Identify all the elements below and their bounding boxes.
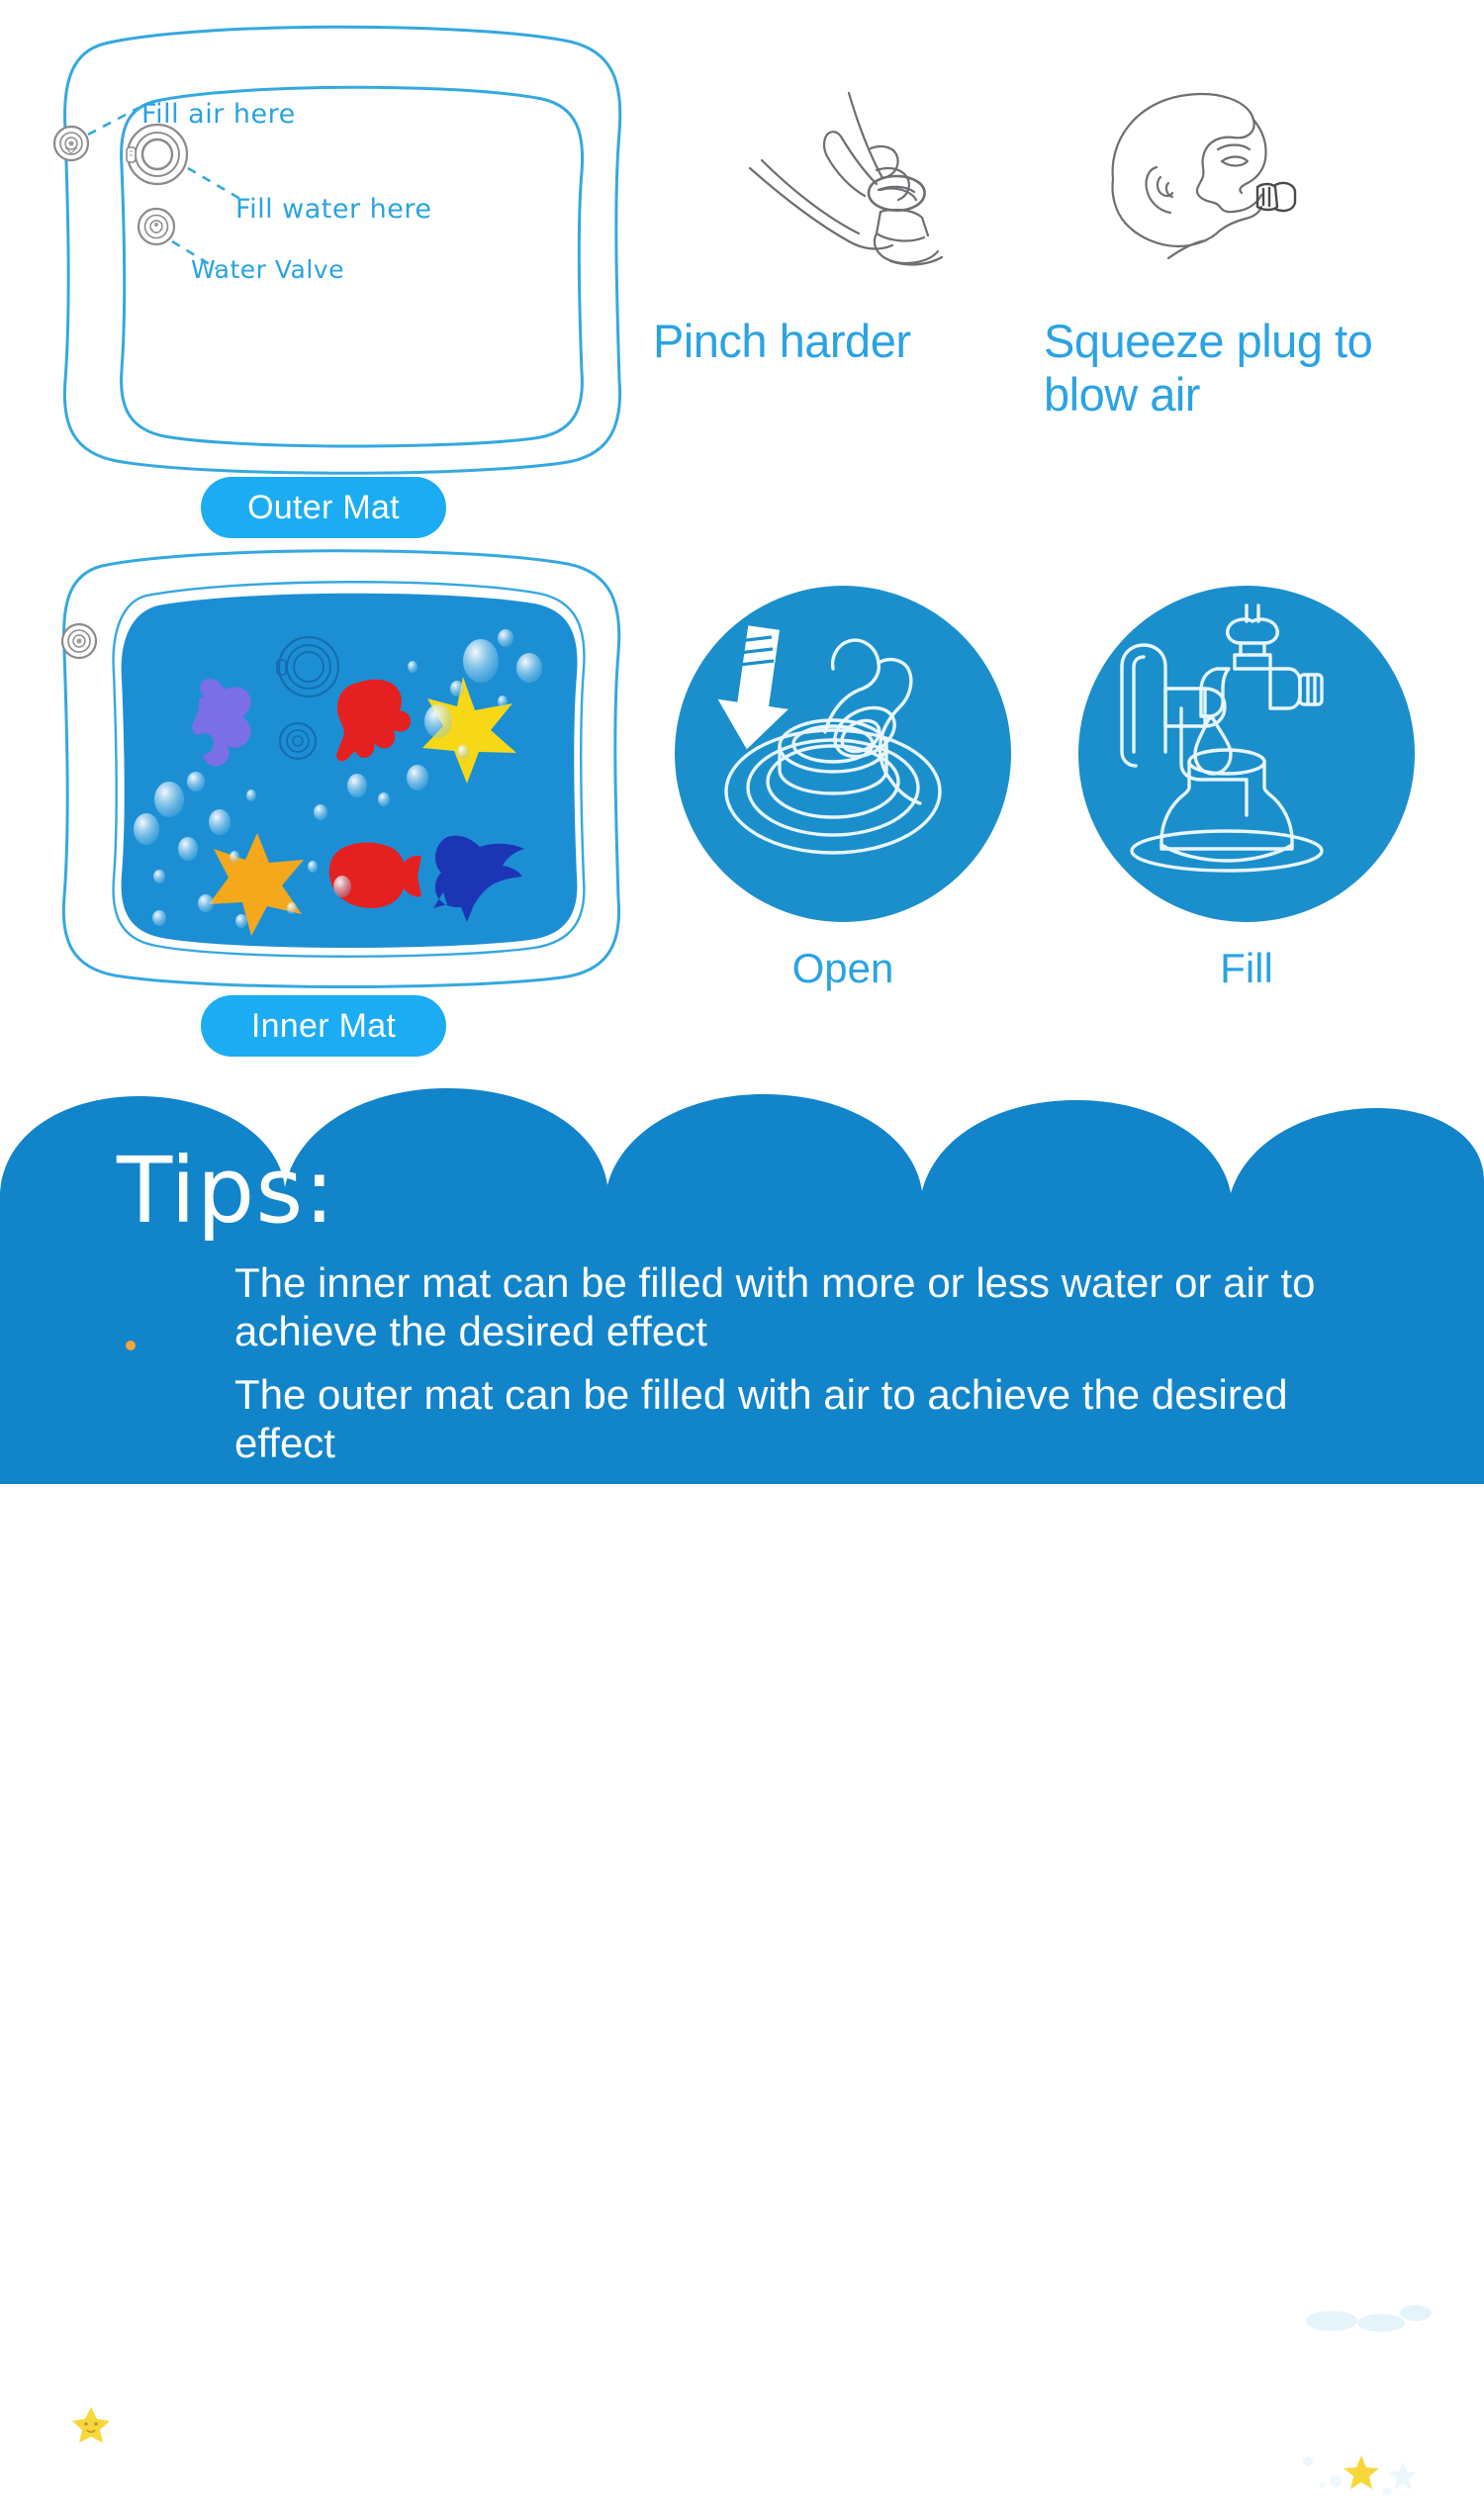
step-fill-illustration bbox=[1078, 586, 1415, 922]
squeeze-plug-illustration bbox=[1083, 84, 1380, 312]
small-dot-decoration bbox=[123, 1338, 139, 1353]
leader-line-air bbox=[88, 108, 139, 135]
inner-mat-diagram bbox=[47, 540, 641, 990]
cloud-icon bbox=[1254, 2236, 1457, 2355]
tips-title: Tips: bbox=[117, 1138, 335, 1244]
water-valve-icon bbox=[139, 209, 174, 244]
tip-line-2: The outer mat can be filled with air to … bbox=[234, 1370, 1343, 1467]
inner-mat-badge: Inner Mat bbox=[201, 995, 446, 1057]
outer-mat-diagram: Fill air here Fill water here Water Valv… bbox=[47, 14, 641, 479]
step-open-caption: Open bbox=[675, 945, 1011, 992]
outer-mat-outline bbox=[64, 27, 619, 473]
callout-fill-water-label: Fill water here bbox=[235, 194, 432, 225]
callout-water-valve-label: Water Valve bbox=[191, 255, 344, 284]
pinch-harder-label: Pinch harder bbox=[653, 315, 911, 368]
sparkle-decorations bbox=[1296, 2444, 1444, 2503]
water-fill-port-icon bbox=[127, 125, 187, 184]
squeeze-plug-label: Squeeze plug to blow air bbox=[1044, 315, 1439, 421]
step-fill-caption: Fill bbox=[1078, 945, 1415, 992]
air-valve-icon bbox=[54, 127, 88, 160]
inner-mat-air-valve-icon bbox=[62, 624, 96, 658]
outer-mat-badge: Outer Mat bbox=[201, 477, 446, 538]
small-star-icon bbox=[71, 2404, 111, 2444]
pinch-harder-illustration bbox=[732, 87, 989, 300]
callout-fill-air-label: Fill air here bbox=[141, 99, 296, 130]
tip-line-1: The inner mat can be filled with more or… bbox=[234, 1258, 1343, 1355]
step-open-illustration bbox=[675, 586, 1011, 922]
